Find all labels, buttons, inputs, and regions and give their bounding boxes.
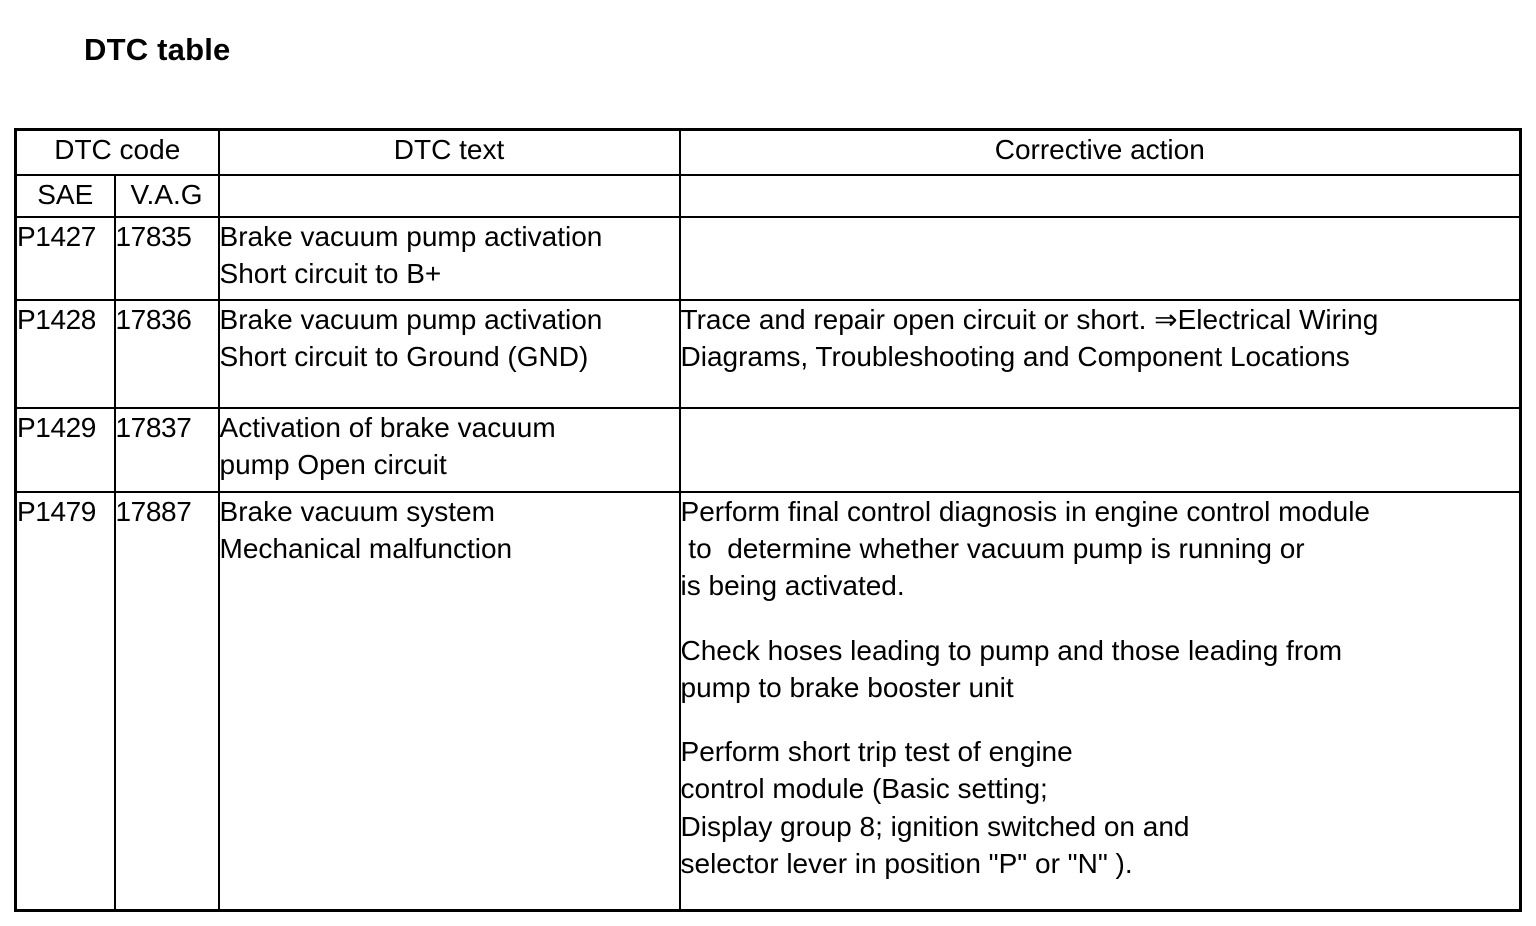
text-blank-line — [681, 706, 1520, 733]
text-line: control module (Basic setting; — [681, 770, 1520, 807]
page-title: DTC table — [84, 32, 230, 68]
header-sae: SAE — [16, 175, 115, 217]
text-line: to determine whether vacuum pump is runn… — [681, 530, 1520, 567]
cell-dtc-text: Brake vacuum pump activationShort circui… — [219, 217, 680, 300]
text-line: is being activated. — [681, 567, 1520, 604]
cell-dtc-text: Brake vacuum pump activationShort circui… — [219, 300, 680, 408]
cell-dtc-text: Activation of brake vacuumpump Open circ… — [219, 408, 680, 492]
cell-sae-code: P1427 — [16, 217, 115, 300]
text-line: Brake vacuum system — [220, 493, 679, 530]
cell-vag-code: 17837 — [115, 408, 219, 492]
text-line: Display group 8; ignition switched on an… — [681, 808, 1520, 845]
dtc-table-container: DTC code DTC text Corrective action SAE … — [14, 128, 1519, 912]
text-line: Brake vacuum pump activation — [220, 301, 679, 338]
cell-vag-code: 17836 — [115, 300, 219, 408]
header-dtc-text-sub — [219, 175, 680, 217]
table-header-row-secondary: SAE V.A.G — [16, 175, 1521, 217]
text-blank-line — [681, 605, 1520, 632]
cell-corrective-action — [680, 217, 1521, 300]
cell-sae-code: P1479 — [16, 492, 115, 910]
cell-corrective-action — [680, 408, 1521, 492]
table-row: P1479 17887 Brake vacuum systemMechanica… — [16, 492, 1521, 910]
text-line: Check hoses leading to pump and those le… — [681, 632, 1520, 669]
dtc-table: DTC code DTC text Corrective action SAE … — [14, 128, 1522, 912]
cell-vag-code: 17835 — [115, 217, 219, 300]
header-corrective-action-sub — [680, 175, 1521, 217]
cell-vag-code: 17887 — [115, 492, 219, 910]
text-line: Perform final control diagnosis in engin… — [681, 493, 1520, 530]
cell-corrective-action: Trace and repair open circuit or short. … — [680, 300, 1521, 408]
table-row: P1429 17837 Activation of brake vacuumpu… — [16, 408, 1521, 492]
cell-sae-code: P1428 — [16, 300, 115, 408]
text-line: pump Open circuit — [220, 446, 679, 483]
text-line: Activation of brake vacuum — [220, 409, 679, 446]
header-dtc-text: DTC text — [219, 130, 680, 176]
text-line: pump to brake booster unit — [681, 669, 1520, 706]
cell-sae-code: P1429 — [16, 408, 115, 492]
cell-corrective-action: Perform final control diagnosis in engin… — [680, 492, 1521, 910]
table-header: DTC code DTC text Corrective action SAE … — [16, 130, 1521, 218]
text-line: Brake vacuum pump activation — [220, 218, 679, 255]
text-line: Perform short trip test of engine — [681, 733, 1520, 770]
table-header-row-primary: DTC code DTC text Corrective action — [16, 130, 1521, 176]
text-line: Diagrams, Troubleshooting and Component … — [681, 338, 1520, 375]
text-line: selector lever in position "P" or "N" ). — [681, 845, 1520, 882]
cell-dtc-text: Brake vacuum systemMechanical malfunctio… — [219, 492, 680, 910]
text-line: Short circuit to B+ — [220, 255, 679, 292]
text-line: Mechanical malfunction — [220, 530, 679, 567]
table-row: P1427 17835 Brake vacuum pump activation… — [16, 217, 1521, 300]
text-line: Short circuit to Ground (GND) — [220, 338, 679, 375]
header-vag: V.A.G — [115, 175, 219, 217]
table-body: P1427 17835 Brake vacuum pump activation… — [16, 217, 1521, 910]
header-corrective-action: Corrective action — [680, 130, 1521, 176]
header-dtc-code: DTC code — [16, 130, 219, 176]
text-line: Trace and repair open circuit or short. … — [681, 301, 1520, 338]
table-row: P1428 17836 Brake vacuum pump activation… — [16, 300, 1521, 408]
